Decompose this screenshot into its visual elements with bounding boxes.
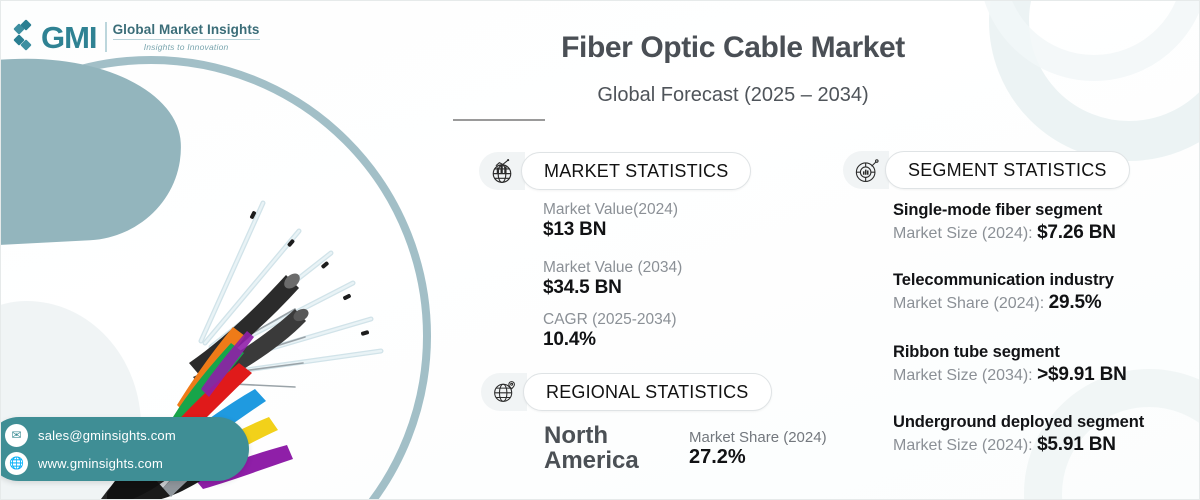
market-stat-value-1: $34.5 BN — [543, 277, 682, 299]
contact-website-row[interactable]: 🌐 www.gminsights.com — [5, 452, 249, 475]
title-divider — [453, 119, 545, 121]
regional-share-value: 27.2% — [689, 446, 827, 469]
market-statistics-badge: MARKET STATISTICS — [479, 152, 751, 190]
segment-metric-label-0: Market Size (2024): — [893, 225, 1037, 242]
market-stat-label-2: CAGR (2025-2034) — [543, 311, 677, 329]
segment-item-3: Underground deployed segment Market Size… — [893, 413, 1144, 456]
market-stat-value-2: 10.4% — [543, 329, 677, 351]
market-statistics-pill: MARKET STATISTICS — [521, 152, 751, 190]
logo-tagline: Insights to Innovation — [113, 42, 260, 52]
segment-statistics-label: SEGMENT STATISTICS — [908, 160, 1107, 181]
contact-email: sales@gminsights.com — [38, 428, 176, 443]
page-subtitle: Global Forecast (2025 – 2034) — [453, 84, 1013, 107]
globe-bar-chart-icon — [479, 152, 525, 190]
market-stat-item-2: CAGR (2025-2034) 10.4% — [543, 311, 677, 351]
logo-text-block: Global Market Insights Insights to Innov… — [105, 22, 260, 52]
globe-pin-icon — [481, 373, 527, 411]
segment-title-1: Telecommunication industry — [893, 271, 1114, 290]
regional-statistics-pill: REGIONAL STATISTICS — [523, 373, 772, 411]
segment-metric-value-3: $5.91 BN — [1037, 434, 1116, 455]
infographic-root: GMI Global Market Insights Insights to I… — [0, 0, 1200, 500]
contact-website: www.gminsights.com — [38, 456, 163, 471]
globe-icon: 🌐 — [5, 452, 28, 475]
segment-item-0: Single-mode fiber segment Market Size (2… — [893, 201, 1116, 244]
segment-metric-3: Market Size (2024): $5.91 BN — [893, 434, 1144, 456]
regional-region-line2: America — [544, 448, 639, 473]
regional-share-block: Market Share (2024) 27.2% — [689, 429, 827, 469]
segment-title-2: Ribbon tube segment — [893, 343, 1127, 362]
market-stat-item-0: Market Value(2024) $13 BN — [543, 201, 678, 241]
regional-share-label: Market Share (2024) — [689, 429, 827, 446]
logo-company-name: Global Market Insights — [113, 22, 260, 37]
segment-metric-0: Market Size (2024): $7.26 BN — [893, 222, 1116, 244]
segment-item-2: Ribbon tube segment Market Size (2034): … — [893, 343, 1127, 386]
segment-statistics-pill: SEGMENT STATISTICS — [885, 151, 1130, 189]
market-stat-label-0: Market Value(2024) — [543, 201, 678, 219]
market-statistics-label: MARKET STATISTICS — [544, 161, 728, 182]
contact-email-row[interactable]: ✉ sales@gminsights.com — [5, 424, 249, 447]
contact-badge[interactable]: ✉ sales@gminsights.com 🌐 www.gminsights.… — [0, 417, 249, 481]
logo-divider — [113, 39, 260, 40]
segment-title-0: Single-mode fiber segment — [893, 201, 1116, 220]
donut-chart-target-icon — [843, 151, 889, 189]
segment-metric-label-1: Market Share (2024): — [893, 295, 1049, 312]
logo-initials: GMI — [41, 22, 97, 53]
page-title: Fiber Optic Cable Market — [453, 31, 1013, 65]
regional-statistics-badge: REGIONAL STATISTICS — [481, 373, 772, 411]
market-stat-label-1: Market Value (2034) — [543, 259, 682, 277]
segment-metric-value-2: >$9.91 BN — [1037, 364, 1127, 385]
segment-metric-value-1: 29.5% — [1049, 292, 1102, 313]
segment-metric-1: Market Share (2024): 29.5% — [893, 292, 1114, 314]
regional-region-line1: North — [544, 423, 639, 448]
gmi-diamond-logo-icon — [15, 21, 33, 53]
segment-metric-2: Market Size (2034): >$9.91 BN — [893, 364, 1127, 386]
regional-statistics-label: REGIONAL STATISTICS — [546, 382, 749, 403]
segment-statistics-badge: SEGMENT STATISTICS — [843, 151, 1130, 189]
regional-region-name: North America — [544, 423, 639, 474]
market-stat-value-0: $13 BN — [543, 219, 678, 241]
segment-metric-label-3: Market Size (2024): — [893, 437, 1037, 454]
market-stat-item-1: Market Value (2034) $34.5 BN — [543, 259, 682, 299]
envelope-icon: ✉ — [5, 424, 28, 447]
segment-item-1: Telecommunication industry Market Share … — [893, 271, 1114, 314]
segment-metric-value-0: $7.26 BN — [1037, 222, 1116, 243]
segment-title-3: Underground deployed segment — [893, 413, 1144, 432]
segment-metric-label-2: Market Size (2034): — [893, 367, 1037, 384]
brand-logo[interactable]: GMI Global Market Insights Insights to I… — [15, 21, 260, 53]
